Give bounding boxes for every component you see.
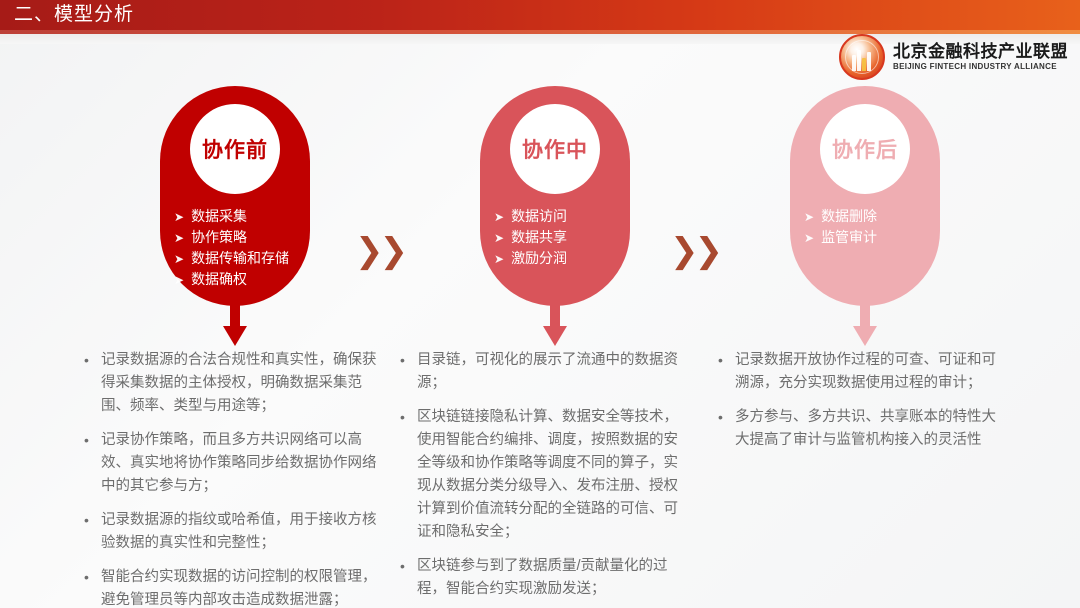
list-item-text: 记录数据源的合法合规性和真实性，确保获得采集数据的主体授权，明确数据采集范围、频… bbox=[101, 349, 384, 418]
down-arrow-icon bbox=[543, 302, 567, 346]
stage-title-badge: 协作中 bbox=[510, 104, 600, 194]
arrow-bullet-icon: ➤ bbox=[494, 249, 504, 269]
list-item[interactable]: ➤数据删除 bbox=[804, 206, 940, 227]
list-item: •智能合约实现数据的访问控制的权限管理，避免管理员等内部攻击造成数据泄露； bbox=[84, 566, 384, 608]
down-arrow-icon bbox=[853, 302, 877, 346]
arrow-bullet-icon: ➤ bbox=[174, 228, 184, 248]
bullet-dot-icon: • bbox=[718, 349, 725, 395]
arrow-bullet-icon: ➤ bbox=[174, 249, 184, 269]
list-item: •记录协作策略，而且多方共识网络可以高效、真实地将协作策略同步给数据协作网络中的… bbox=[84, 429, 384, 498]
list-item[interactable]: ➤数据确权 bbox=[174, 269, 310, 290]
list-item-text: 目录链，可视化的展示了流通中的数据资源； bbox=[417, 349, 692, 395]
list-item: •目录链，可视化的展示了流通中的数据资源； bbox=[400, 349, 692, 395]
bullet-dot-icon: • bbox=[718, 406, 725, 452]
slide-body: ❯❯ ❯❯ 协作前 ➤数据采集 ➤协作策略 ➤数据传输和存储 ➤数据确权 •记录… bbox=[0, 44, 1080, 608]
list-item[interactable]: ➤数据访问 bbox=[494, 206, 630, 227]
arrow-bullet-icon: ➤ bbox=[804, 228, 814, 248]
arrow-bullet-icon: ➤ bbox=[804, 207, 814, 227]
stage-title: 协作前 bbox=[202, 134, 268, 164]
list-item-label: 数据访问 bbox=[511, 206, 567, 226]
list-item[interactable]: ➤数据共享 bbox=[494, 227, 630, 248]
capsule-holder: 协作中 ➤数据访问 ➤数据共享 ➤激励分润 bbox=[390, 44, 710, 344]
arrow-bullet-icon: ➤ bbox=[174, 270, 184, 290]
stage-capsule-after[interactable]: 协作后 ➤数据删除 ➤监管审计 bbox=[790, 86, 940, 306]
list-item: •多方参与、多方共识、共享账本的特性大大提高了审计与监管机构接入的灵活性 bbox=[718, 406, 1006, 452]
list-item-text: 区块链链接隐私计算、数据安全等技术，使用智能合约编排、调度，按照数据的安全等级和… bbox=[417, 406, 692, 544]
list-item-label: 协作策略 bbox=[191, 227, 247, 247]
arrow-bullet-icon: ➤ bbox=[174, 207, 184, 227]
stage-column-before: 协作前 ➤数据采集 ➤协作策略 ➤数据传输和存储 ➤数据确权 •记录数据源的合法… bbox=[70, 44, 390, 344]
stage-item-list: ➤数据删除 ➤监管审计 bbox=[790, 206, 940, 248]
list-item: •记录数据开放协作过程的可查、可证和可溯源，充分实现数据使用过程的审计； bbox=[718, 349, 1006, 395]
stage-item-list: ➤数据采集 ➤协作策略 ➤数据传输和存储 ➤数据确权 bbox=[160, 206, 310, 290]
list-item-label: 数据删除 bbox=[821, 206, 877, 226]
list-item-text: 记录数据开放协作过程的可查、可证和可溯源，充分实现数据使用过程的审计； bbox=[735, 349, 1006, 395]
capsule-holder: 协作后 ➤数据删除 ➤监管审计 bbox=[700, 44, 1020, 344]
arrow-bullet-icon: ➤ bbox=[494, 207, 504, 227]
stage-title-badge: 协作后 bbox=[820, 104, 910, 194]
stage-capsule-during[interactable]: 协作中 ➤数据访问 ➤数据共享 ➤激励分润 bbox=[480, 86, 630, 306]
arrow-bullet-icon: ➤ bbox=[494, 228, 504, 248]
list-item-text: 记录协作策略，而且多方共识网络可以高效、真实地将协作策略同步给数据协作网络中的其… bbox=[101, 429, 384, 498]
list-item-label: 数据确权 bbox=[191, 269, 247, 289]
stage-description-list: •记录数据源的合法合规性和真实性，确保获得采集数据的主体授权，明确数据采集范围、… bbox=[84, 349, 384, 608]
list-item[interactable]: ➤协作策略 bbox=[174, 227, 310, 248]
list-item: •区块链参与到了数据质量/贡献量化的过程，智能合约实现激励发送； bbox=[400, 555, 692, 601]
list-item-label: 数据采集 bbox=[191, 206, 247, 226]
list-item-text: 区块链参与到了数据质量/贡献量化的过程，智能合约实现激励发送； bbox=[417, 555, 692, 601]
stage-item-list: ➤数据访问 ➤数据共享 ➤激励分润 bbox=[480, 206, 630, 269]
list-item-label: 数据共享 bbox=[511, 227, 567, 247]
stage-description-list: •记录数据开放协作过程的可查、可证和可溯源，充分实现数据使用过程的审计； •多方… bbox=[718, 349, 1006, 463]
list-item: •记录数据源的指纹或哈希值，用于接收方核验数据的真实性和完整性； bbox=[84, 509, 384, 555]
stage-title: 协作中 bbox=[522, 134, 588, 164]
bullet-dot-icon: • bbox=[84, 509, 91, 555]
down-arrow-icon bbox=[223, 302, 247, 346]
bullet-dot-icon: • bbox=[400, 349, 407, 395]
bullet-dot-icon: • bbox=[84, 349, 91, 418]
list-item: •记录数据源的合法合规性和真实性，确保获得采集数据的主体授权，明确数据采集范围、… bbox=[84, 349, 384, 418]
page-title: 二、模型分析 bbox=[0, 0, 134, 30]
list-item-text: 智能合约实现数据的访问控制的权限管理，避免管理员等内部攻击造成数据泄露； bbox=[101, 566, 384, 608]
list-item-label: 监管审计 bbox=[821, 227, 877, 247]
list-item: •区块链链接隐私计算、数据安全等技术，使用智能合约编排、调度，按照数据的安全等级… bbox=[400, 406, 692, 544]
stage-capsule-before[interactable]: 协作前 ➤数据采集 ➤协作策略 ➤数据传输和存储 ➤数据确权 bbox=[160, 86, 310, 306]
bullet-dot-icon: • bbox=[400, 555, 407, 601]
stage-column-during: 协作中 ➤数据访问 ➤数据共享 ➤激励分润 •目录链，可视化的展示了流通中的数据… bbox=[390, 44, 710, 344]
bullet-dot-icon: • bbox=[400, 406, 407, 544]
stage-title: 协作后 bbox=[832, 134, 898, 164]
list-item-label: 数据传输和存储 bbox=[191, 248, 289, 268]
list-item-text: 多方参与、多方共识、共享账本的特性大大提高了审计与监管机构接入的灵活性 bbox=[735, 406, 1006, 452]
bullet-dot-icon: • bbox=[84, 429, 91, 498]
stage-description-list: •目录链，可视化的展示了流通中的数据资源； •区块链链接隐私计算、数据安全等技术… bbox=[400, 349, 692, 608]
list-item-label: 激励分润 bbox=[511, 248, 567, 268]
bullet-dot-icon: • bbox=[84, 566, 91, 608]
list-item[interactable]: ➤数据采集 bbox=[174, 206, 310, 227]
list-item[interactable]: ➤监管审计 bbox=[804, 227, 940, 248]
header-bar: 二、模型分析 bbox=[0, 0, 1080, 30]
stage-column-after: 协作后 ➤数据删除 ➤监管审计 •记录数据开放协作过程的可查、可证和可溯源，充分… bbox=[700, 44, 1020, 344]
list-item-text: 记录数据源的指纹或哈希值，用于接收方核验数据的真实性和完整性； bbox=[101, 509, 384, 555]
list-item[interactable]: ➤数据传输和存储 bbox=[174, 248, 310, 269]
stage-title-badge: 协作前 bbox=[190, 104, 280, 194]
list-item[interactable]: ➤激励分润 bbox=[494, 248, 630, 269]
capsule-holder: 协作前 ➤数据采集 ➤协作策略 ➤数据传输和存储 ➤数据确权 bbox=[70, 44, 390, 344]
